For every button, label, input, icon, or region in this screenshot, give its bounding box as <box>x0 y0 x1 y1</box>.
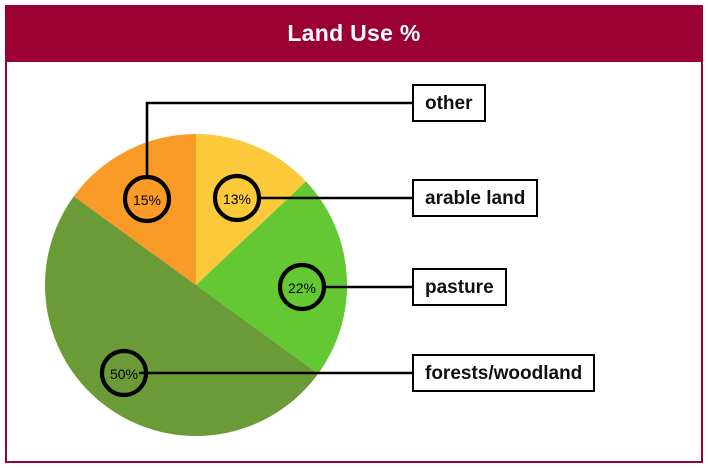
pie-chart-svg: 15% 13% 22% 50% <box>7 62 701 461</box>
pie-badge-pasture-label: 22% <box>288 280 316 296</box>
pie-badge-arable-land-label: 13% <box>223 191 251 207</box>
callout-label-forests-woodland[interactable]: forests/woodland <box>412 354 595 392</box>
callout-label-forests-woodland-text: forests/woodland <box>425 364 582 383</box>
pie-badge-forests-woodland-label: 50% <box>110 366 138 382</box>
callout-label-pasture-text: pasture <box>425 278 494 297</box>
chart-area: 15% 13% 22% 50% other arable land pastu <box>7 62 701 461</box>
callout-label-arable-land[interactable]: arable land <box>412 179 538 217</box>
callout-label-other[interactable]: other <box>412 84 486 122</box>
callout-label-other-text: other <box>425 94 473 113</box>
callout-label-pasture[interactable]: pasture <box>412 268 507 306</box>
page-title: Land Use % <box>287 20 420 47</box>
pie-badge-other-label: 15% <box>133 192 161 208</box>
chart-figure: Land Use % 15% <box>0 0 708 468</box>
callout-label-arable-land-text: arable land <box>425 189 525 208</box>
title-banner: Land Use % <box>5 5 703 62</box>
